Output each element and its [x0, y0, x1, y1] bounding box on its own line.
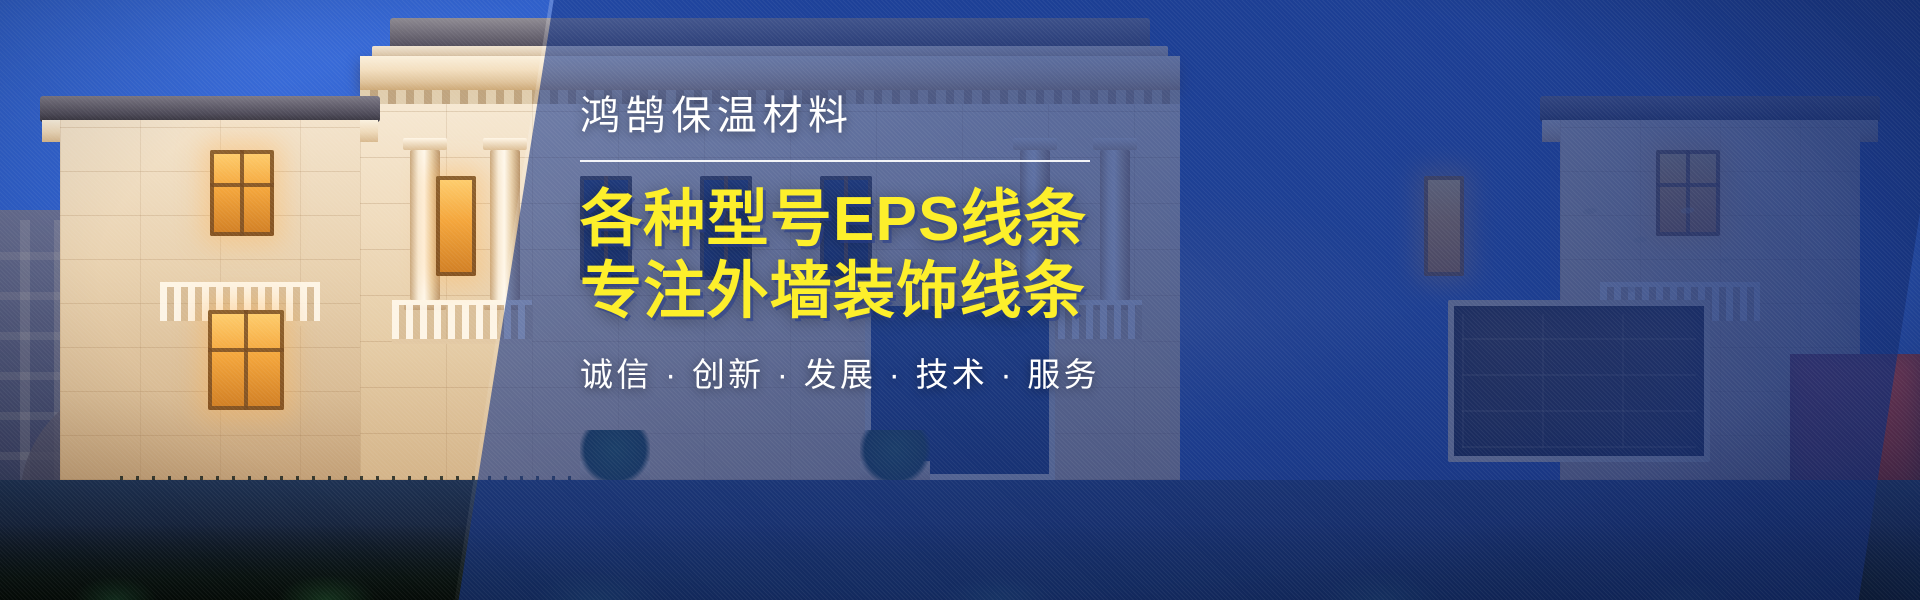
villa-window — [436, 176, 476, 276]
banner-copy-block: 鸿鹄保温材料 各种型号EPS线条 专注外墙装饰线条 诚信 · 创新 · 发展 ·… — [580, 96, 1340, 391]
villa-window — [208, 310, 284, 410]
tagline: 诚信 · 创新 · 发展 · 技术 · 服务 — [580, 358, 1340, 391]
villa-window — [210, 150, 274, 236]
window-mullion — [244, 310, 248, 410]
window-mullion — [240, 150, 244, 236]
villa-left-wing-roof — [40, 96, 380, 122]
brand-name: 鸿鹄保温材料 — [580, 96, 1340, 136]
headline-line-1: 各种型号EPS线条 — [580, 184, 1340, 256]
headline-line-2: 专注外墙装饰线条 — [580, 256, 1340, 328]
window-transom — [210, 183, 274, 187]
overlay-right-fade — [1500, 0, 1920, 600]
window-transom — [208, 348, 284, 352]
headline-block: 各种型号EPS线条 专注外墙装饰线条 — [580, 184, 1340, 328]
divider-rule — [580, 160, 1090, 162]
hero-banner: 鸿鹄保温材料 各种型号EPS线条 专注外墙装饰线条 诚信 · 创新 · 发展 ·… — [0, 0, 1920, 600]
